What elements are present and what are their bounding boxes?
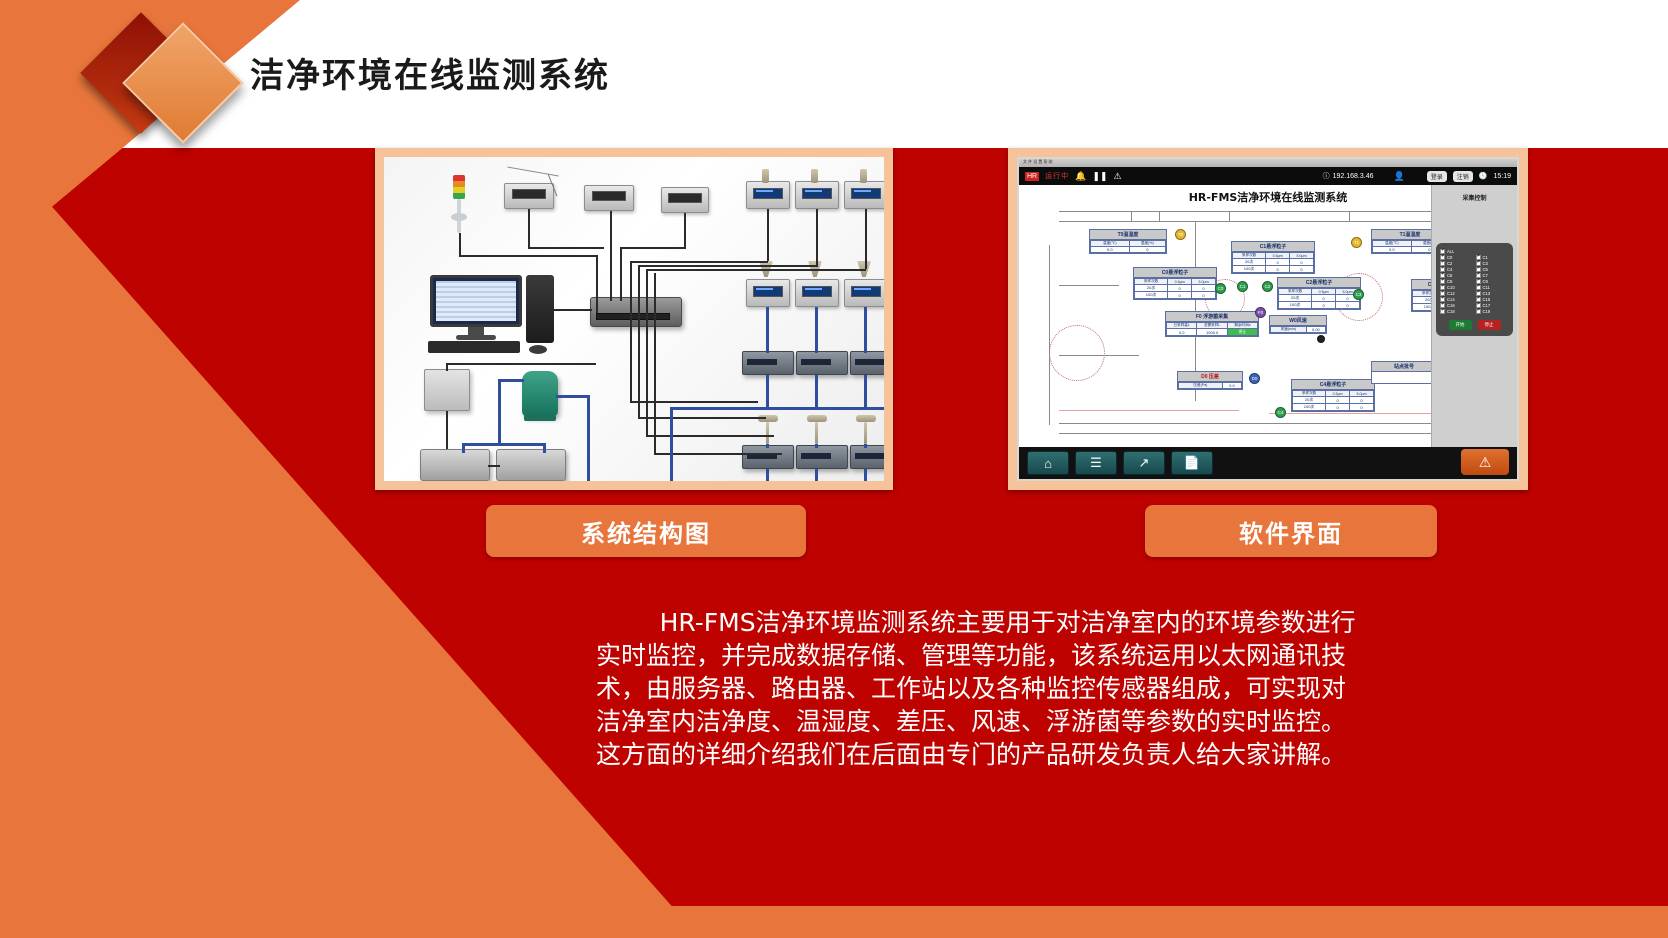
tag-T0[interactable]: T0 xyxy=(1175,229,1186,240)
tube-counter-6 xyxy=(864,469,867,481)
tube-tank-top xyxy=(498,379,524,382)
widget-C0-r1c0: 100次 xyxy=(1135,292,1168,299)
user-icon[interactable]: 👤 xyxy=(1394,171,1405,182)
wire-sampler-link xyxy=(488,465,500,467)
widget-C4-r0c2: 0 xyxy=(1350,397,1374,404)
sampler-stem-2 xyxy=(815,422,818,444)
widget-T1-v0: 0.0 xyxy=(1373,247,1412,253)
checkbox-ALL-label: ALL xyxy=(1447,249,1454,254)
tag-D0[interactable]: D0 xyxy=(1249,373,1260,384)
widget-T0[interactable]: T0温湿度 温度(℃) 湿度(%) 0.0 0 xyxy=(1089,229,1167,254)
tube-rv-6 xyxy=(864,444,867,448)
widget-C4-r1c1: 0 xyxy=(1326,404,1350,411)
checkbox-C12-label: C12 xyxy=(1447,291,1455,296)
tag-C4[interactable]: C4 xyxy=(1275,407,1286,418)
widget-C0-r0c1: 0 xyxy=(1168,285,1192,292)
caption-software-ui: 软件界面 xyxy=(1145,505,1437,557)
sampler-unit-1 xyxy=(742,445,794,469)
th-transmitter-r1-2 xyxy=(795,181,839,209)
channel-checkbox-grid: ALL C0 C1 C2 C3 C4 C5 C6 C7 C8 C9 xyxy=(1440,249,1509,314)
checkbox-C10-label: C10 xyxy=(1447,285,1455,290)
checkbox-C2-label: C2 xyxy=(1447,261,1452,266)
alarm-tower-icon xyxy=(453,175,465,199)
widget-T0-v0: 0.0 xyxy=(1091,247,1130,253)
checkbox-C16-label: C16 xyxy=(1447,303,1455,308)
widget-C1-r1c2: 0 xyxy=(1290,266,1314,273)
widget-W0-v0: 0.00 xyxy=(1306,327,1325,333)
floating-bacteria-sampler-1 xyxy=(420,449,490,481)
ip-value: 192.168.3.46 xyxy=(1333,173,1374,180)
widget-F0-v0: 0.0 xyxy=(1167,329,1197,336)
fp-wall-v2 xyxy=(1159,211,1160,221)
fp-wall-bottom xyxy=(1059,423,1449,424)
tube-s1 xyxy=(462,443,465,453)
widget-D0-col0: 压差(Pa) xyxy=(1179,383,1223,389)
tube-rv-1 xyxy=(766,307,769,353)
ip-address-display: ⓘ 192.168.3.46 xyxy=(1323,171,1374,181)
paragraph-line-2: 实时监控，并完成数据存储、管理等功能，该系统运用以太网通讯技 xyxy=(596,639,1508,672)
widget-F0[interactable]: F0 浮游菌采集 已采样量L 总需采样L 剩余时间s 0.0 1000.0 停止 xyxy=(1165,311,1259,337)
login-chip[interactable]: 登录 xyxy=(1427,171,1447,182)
wire-cabinet-v xyxy=(446,363,448,371)
tube-tank-right xyxy=(556,395,590,398)
pressure-tank xyxy=(522,371,558,417)
th-transmitter-r2-2 xyxy=(795,279,839,307)
widget-C1-r0c1: 0 xyxy=(1266,259,1290,266)
tank-legs xyxy=(524,415,556,421)
floating-bacteria-sampler-2 xyxy=(496,449,566,481)
home-icon[interactable]: ⌂ xyxy=(1027,451,1069,475)
collection-control-title: 采集控制 xyxy=(1432,193,1517,202)
ahu-fan-1 xyxy=(1049,325,1105,381)
warning-icon[interactable]: ⚠ xyxy=(1113,171,1121,182)
checkbox-C0-label: C0 xyxy=(1447,255,1452,260)
bar-chart-icon[interactable]: ☰ xyxy=(1075,451,1117,475)
wire-d3v xyxy=(620,247,622,301)
paragraph-line-1: HR-FMS洁净环境监测系统主要用于对洁净室内的环境参数进行 xyxy=(596,606,1508,639)
widget-C1-r1c0: 100次 xyxy=(1233,266,1266,273)
control-cabinet xyxy=(424,369,470,411)
software-canvas: HR-FMS洁净环境在线监测系统 xyxy=(1019,185,1517,447)
tube-counter-3 xyxy=(864,375,867,407)
tube-rv-4 xyxy=(766,444,769,448)
sampler-head-3 xyxy=(856,415,876,422)
wire-d1h xyxy=(528,247,604,249)
fp-wall-v3 xyxy=(1229,211,1230,221)
wire-bus-c xyxy=(646,269,648,435)
sampler-stem-3 xyxy=(864,422,867,444)
wire-bus-b xyxy=(638,265,640,417)
th-transmitter-r1-1 xyxy=(746,181,790,209)
checkbox-C14-label: C14 xyxy=(1447,297,1455,302)
widget-C0-r1c1: 0 xyxy=(1168,292,1192,299)
wire-d1 xyxy=(528,209,530,247)
widget-C4-title: C4悬浮粒子 xyxy=(1292,380,1374,390)
keyboard xyxy=(428,341,520,353)
sensor-dot-black xyxy=(1317,335,1325,343)
checkbox-C1-label: C1 xyxy=(1483,255,1488,260)
wire-d3h xyxy=(620,247,686,249)
widget-C2-r0c1: 0 xyxy=(1312,295,1336,302)
tag-C0[interactable]: C0 xyxy=(1215,283,1226,294)
widget-W0[interactable]: W0风速 风速(m/s) 0.00 xyxy=(1269,315,1327,334)
checkbox-C19-label: C19 xyxy=(1483,309,1491,314)
wire-bus-a xyxy=(630,261,632,401)
point-batch-input[interactable] xyxy=(1372,372,1436,383)
particle-counter-3 xyxy=(850,351,884,375)
paragraph-line-3: 术，由服务器、路由器、工作站以及各种监控传感器组成，可实现对 xyxy=(596,672,1508,705)
widget-F0-title: F0 浮游菌采集 xyxy=(1166,312,1258,322)
tube-counter-1 xyxy=(766,375,769,407)
start-collection-button[interactable]: 开始 xyxy=(1449,320,1472,330)
info-icon: ⓘ xyxy=(1323,171,1330,181)
tag-F0[interactable]: F0 xyxy=(1255,307,1266,318)
checkbox-C18[interactable]: C18 xyxy=(1440,309,1474,314)
system-diagram-image xyxy=(384,157,884,481)
tube-counter-2 xyxy=(815,375,818,407)
checkbox-C18-label: C18 xyxy=(1447,309,1455,314)
fp-wall-v1 xyxy=(1131,211,1132,221)
sampler-unit-3 xyxy=(850,445,884,469)
wire-h1 xyxy=(459,255,597,257)
widget-C2-title: C2悬浮粒子 xyxy=(1278,278,1360,288)
checkbox-C9-label: C9 xyxy=(1483,279,1488,284)
app-logo: HR xyxy=(1025,172,1039,181)
wire-bus-top-b xyxy=(638,265,818,267)
checkbox-C6-label: C6 xyxy=(1447,273,1452,278)
widget-F0-v2: 停止 xyxy=(1227,329,1257,336)
tag-C2[interactable]: C2 xyxy=(1262,281,1273,292)
stop-collection-button[interactable]: 停止 xyxy=(1478,320,1501,330)
th-transmitter-r1-3 xyxy=(844,181,884,209)
widget-C1[interactable]: C1悬浮粒子 采样次数 0.5μm 5.0μm 20次 0 xyxy=(1231,241,1315,274)
widget-C4-r0c1: 0 xyxy=(1326,397,1350,404)
widget-C1-r0c0: 20次 xyxy=(1233,259,1266,266)
tube-counter-4 xyxy=(766,469,769,481)
tag-T1[interactable]: T1 xyxy=(1351,237,1362,248)
transmitter-2 xyxy=(584,185,634,211)
th-probe-1 xyxy=(762,169,769,183)
wire-cabinet xyxy=(446,411,448,449)
checkbox-C15-label: C15 xyxy=(1483,297,1491,302)
tube-bottom-join xyxy=(462,443,546,446)
network-switch xyxy=(590,297,682,327)
alarm-icon[interactable]: ⚠ xyxy=(1461,449,1509,475)
mouse xyxy=(529,345,547,354)
widget-D0-v0: 0.0 xyxy=(1222,383,1241,389)
widget-D0-title: D0 压差 xyxy=(1178,372,1242,382)
sampler-unit-2 xyxy=(796,445,848,469)
fp-wall-left xyxy=(1049,245,1050,425)
widget-C2[interactable]: C2悬浮粒子 采样次数 0.5μm 5.0μm 20次 0 xyxy=(1277,277,1361,310)
wire-riser-2 xyxy=(816,209,818,265)
th-probe-3 xyxy=(860,169,867,183)
widget-C4-r1c0: 100次 xyxy=(1293,404,1326,411)
fp-red-line-1 xyxy=(1059,410,1239,411)
th-transmitter-r2-1 xyxy=(746,279,790,307)
th-transmitter-r2-3 xyxy=(844,279,884,307)
fp-room-2 xyxy=(1059,285,1119,286)
tube-rv-2 xyxy=(815,307,818,353)
widget-C1-title: C1悬浮粒子 xyxy=(1232,242,1314,252)
particle-counter-2 xyxy=(796,351,848,375)
tube-tank-left xyxy=(498,379,501,445)
widget-C4[interactable]: C4悬浮粒子 采样次数 0.5μm 5.0μm 20次 0 xyxy=(1291,379,1375,412)
paragraph-line-4: 洁净室内洁净度、温湿度、差压、风速、浮游菌等参数的实时监控。 xyxy=(596,705,1508,738)
wire-riser-1 xyxy=(767,209,769,261)
widget-C0-title: C0悬浮粒子 xyxy=(1134,268,1216,278)
alarm-tower-base xyxy=(451,213,467,221)
fp-red-line-2 xyxy=(1269,413,1449,414)
wire-bus-d xyxy=(654,273,656,453)
widget-C2-r0c0: 20次 xyxy=(1279,295,1312,302)
point-batch-label: 站点批号 xyxy=(1372,362,1436,372)
checkbox-C11-label: C11 xyxy=(1483,285,1490,290)
checkbox-C8-label: C8 xyxy=(1447,279,1452,284)
widget-C0-r1c2: 0 xyxy=(1192,292,1216,299)
paragraph-line-5: 这方面的详细介绍我们在后面由专门的产品研发负责人给大家讲解。 xyxy=(596,738,1508,771)
tag-C1[interactable]: C1 xyxy=(1237,281,1248,292)
fp-wall-top xyxy=(1059,211,1449,212)
widget-W0-col0: 风速(m/s) xyxy=(1271,327,1307,333)
widget-F0-v1: 1000.0 xyxy=(1197,329,1227,336)
checkbox-C19[interactable]: C19 xyxy=(1476,309,1510,314)
tube-s2 xyxy=(543,443,546,453)
wire-bus-bottom-a xyxy=(630,401,758,403)
tube-rv-3 xyxy=(864,307,867,353)
widget-C1-r1c1: 0 xyxy=(1266,266,1290,273)
clock-value: 15:19 xyxy=(1493,173,1511,180)
particle-counter-1 xyxy=(742,351,794,375)
pause-icon[interactable]: ❚❚ xyxy=(1092,171,1107,182)
app-topbar: HR 运行中 🔔 ❚❚ ⚠ ⓘ 192.168.3.46 👤 登录 注销 🕓 1… xyxy=(1019,167,1517,185)
wire-tower-bus xyxy=(459,233,461,255)
system-diagram-frame xyxy=(375,148,893,490)
widget-C2-r1c0: 100次 xyxy=(1279,302,1312,309)
sampler-head-2 xyxy=(807,415,827,422)
fp-wall-top2 xyxy=(1059,221,1449,222)
checkbox-C17-label: C17 xyxy=(1483,303,1491,308)
widget-W0-title: W0风速 xyxy=(1270,316,1326,326)
tube-counter-5 xyxy=(815,469,818,481)
transmitter-1 xyxy=(504,183,554,209)
widget-C4-r1c2: 0 xyxy=(1350,404,1374,411)
widget-C0-r0c2: 0 xyxy=(1192,285,1216,292)
wire-pc-switch xyxy=(554,309,592,311)
software-screenshot-frame: 文 件 设 置 帮 助 HR 运行中 🔔 ❚❚ ⚠ ⓘ 192.168.3.46… xyxy=(1008,148,1528,490)
tag-C3[interactable]: C3 xyxy=(1353,289,1364,300)
checkbox-ALL[interactable]: ALL xyxy=(1440,249,1509,254)
fp-wall-v4 xyxy=(1349,211,1350,221)
clock-icon: 🕓 xyxy=(1479,172,1488,180)
background-bottom-strip xyxy=(0,906,1668,938)
report-icon[interactable]: 📄 xyxy=(1171,451,1213,475)
widget-T0-v1: 0 xyxy=(1129,247,1165,253)
wire-bus-bottom-c xyxy=(646,435,774,437)
widget-D0[interactable]: D0 压差 压差(Pa) 0.0 xyxy=(1177,371,1243,390)
wire-d2 xyxy=(610,211,612,301)
wire-bus-top-c xyxy=(646,269,866,271)
logo xyxy=(90,18,250,133)
software-screenshot-image: 文 件 设 置 帮 助 HR 运行中 🔔 ❚❚ ⚠ ⓘ 192.168.3.46… xyxy=(1017,157,1519,481)
control-buttons: 开始 停止 xyxy=(1440,320,1509,330)
tube-down xyxy=(587,395,590,481)
status-text: 运行中 xyxy=(1045,171,1069,181)
checkbox-C3-label: C3 xyxy=(1483,261,1488,266)
widget-T0-title: T0温湿度 xyxy=(1090,230,1166,240)
logout-chip[interactable]: 注销 xyxy=(1453,171,1473,182)
widget-C1-r0c2: 0 xyxy=(1290,259,1314,266)
desktop-tower xyxy=(526,275,554,343)
wire-bus-top-a xyxy=(630,261,768,263)
trend-chart-icon[interactable]: ↗ xyxy=(1123,451,1165,475)
tube-main-v xyxy=(670,407,673,481)
checkbox-C13-label: C13 xyxy=(1483,291,1491,296)
caption-system-diagram: 系统结构图 xyxy=(486,505,806,557)
page-title: 洁净环境在线监测系统 xyxy=(250,48,610,97)
wire-cabinet-h xyxy=(446,363,596,365)
window-menubar: 文 件 设 置 帮 助 xyxy=(1019,159,1517,167)
widget-C0[interactable]: C0悬浮粒子 采样次数 0.5μm 5.0μm 20次 0 xyxy=(1133,267,1217,300)
workstation-monitor xyxy=(430,275,522,327)
checkbox-C4-label: C4 xyxy=(1447,267,1452,272)
checkbox-C7-label: C7 xyxy=(1483,273,1488,278)
fp-wall-bottom2 xyxy=(1059,433,1449,434)
widget-C2-r1c1: 0 xyxy=(1312,302,1336,309)
th-probe-2 xyxy=(811,169,818,183)
point-batch-box[interactable]: 站点批号 xyxy=(1371,361,1437,384)
wire-v1 xyxy=(596,255,598,313)
tube-main-h xyxy=(670,407,884,410)
description-paragraph: HR-FMS洁净环境监测系统主要用于对洁净室内的环境参数进行 实时监控，并完成数… xyxy=(596,606,1508,771)
wire-d3 xyxy=(684,213,686,247)
collection-control-panel: 采集控制 ALL C0 C1 C2 C3 C4 C5 C6 xyxy=(1431,185,1517,447)
widget-C0-r0c0: 20次 xyxy=(1135,285,1168,292)
wire-bus-bottom-b xyxy=(638,417,766,419)
transmitter-3 xyxy=(661,187,709,213)
slide-root: 洁净环境在线监测系统 xyxy=(0,0,1668,938)
bell-icon[interactable]: 🔔 xyxy=(1075,171,1086,182)
widget-C4-r0c0: 20次 xyxy=(1293,397,1326,404)
wire-riser-3 xyxy=(865,209,867,269)
checkbox-C5-label: C5 xyxy=(1483,267,1488,272)
monitor-base xyxy=(456,335,496,340)
tube-rv-5 xyxy=(815,444,818,448)
software-bottom-toolbar: ⌂ ☰ ↗ 📄 ⚠ xyxy=(1019,447,1517,479)
antenna-wire2 xyxy=(507,166,558,176)
wire-bus-bottom-d xyxy=(654,453,782,455)
channel-checkbox-box: ALL C0 C1 C2 C3 C4 C5 C6 C7 C8 C9 xyxy=(1436,243,1513,336)
widget-C2-r1c2: 0 xyxy=(1336,302,1360,309)
sampler-stem-1 xyxy=(766,422,769,444)
